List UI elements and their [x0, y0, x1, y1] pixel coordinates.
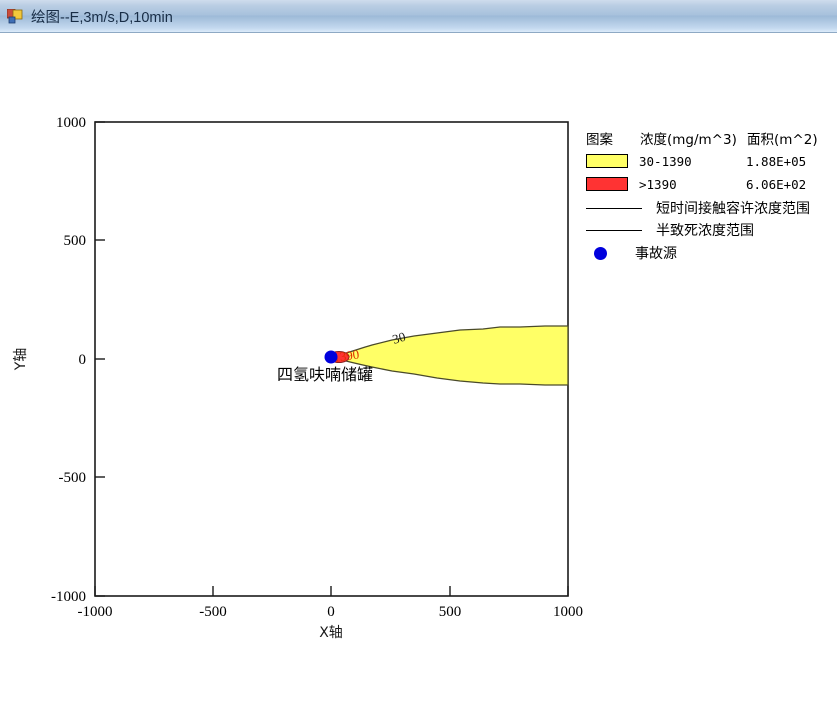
legend-header-row: 图案 浓度(mg/m^3) 面积(m^2) — [586, 128, 836, 148]
legend-swatch-yellow — [586, 154, 628, 168]
legend-header-concentration: 浓度(mg/m^3) — [640, 128, 747, 148]
x-tick-label: -1000 — [78, 604, 113, 620]
legend-source-dot-icon — [594, 247, 607, 260]
legend-label-lc50: 半致死浓度范围 — [656, 220, 754, 240]
legend-row-lc50: 半致死浓度范围 — [586, 219, 836, 241]
y-tick-label: 0 — [79, 352, 87, 368]
legend-header-pattern: 图案 — [586, 128, 640, 148]
legend-panel: 图案 浓度(mg/m^3) 面积(m^2) 30-1390 1.88E+05 >… — [586, 128, 836, 265]
legend-area-red: 6.06E+02 — [746, 177, 806, 192]
accident-source-marker — [325, 351, 338, 364]
legend-swatch-red — [586, 177, 628, 191]
legend-concentration-red: >1390 — [639, 177, 746, 192]
x-tick-label: 500 — [439, 604, 462, 620]
y-axis-ticks: 1000 500 0 -500 -1000 — [51, 115, 105, 605]
legend-label-stel: 短时间接触容许浓度范围 — [656, 198, 810, 218]
legend-header-area: 面积(m^2) — [747, 128, 818, 148]
legend-area-yellow: 1.88E+05 — [746, 154, 806, 169]
legend-row-source: 事故源 — [586, 241, 836, 265]
legend-row-yellow: 30-1390 1.88E+05 — [586, 151, 836, 171]
form-designer-icon — [7, 9, 24, 24]
legend-concentration-yellow: 30-1390 — [639, 154, 746, 169]
accident-source-label: 四氢呋喃储罐 — [277, 365, 373, 384]
legend-line-icon — [586, 230, 642, 231]
x-axis-title: X轴 — [319, 625, 343, 641]
x-tick-label: -500 — [199, 604, 227, 620]
y-tick-label: 500 — [64, 233, 87, 249]
legend-row-stel: 短时间接触容许浓度范围 — [586, 197, 836, 219]
x-tick-label: 0 — [327, 604, 335, 620]
legend-line-icon — [586, 208, 642, 209]
y-tick-label: -1000 — [51, 589, 86, 605]
y-axis-title: Y轴 — [13, 348, 29, 372]
x-tick-label: 1000 — [553, 604, 583, 620]
window-titlebar: 绘图--E,3m/s,D,10min — [0, 0, 837, 33]
legend-row-red: >1390 6.06E+02 — [586, 174, 836, 194]
y-tick-label: -500 — [59, 470, 87, 486]
legend-label-source: 事故源 — [635, 243, 677, 263]
x-axis-ticks: -1000 -500 0 500 1000 — [78, 586, 584, 620]
y-tick-label: 1000 — [56, 115, 86, 131]
window-title: 绘图--E,3m/s,D,10min — [31, 6, 173, 27]
plot-figure: 30 1390 四氢呋喃储罐 -1000 -500 0 500 1000 — [0, 33, 837, 727]
